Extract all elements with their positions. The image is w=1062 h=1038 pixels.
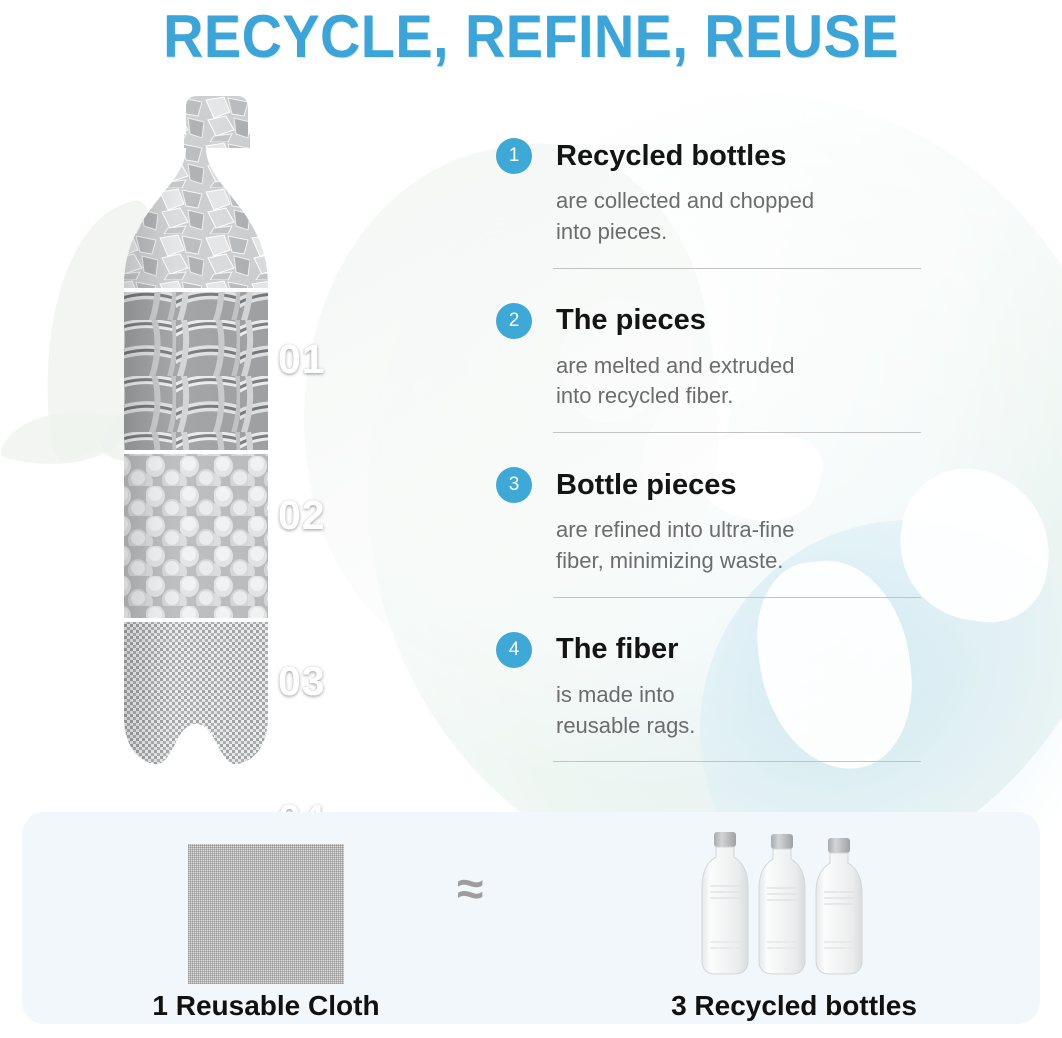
step-2-body: are melted and extruded into recycled fi… [556, 351, 926, 413]
cloth-swatch-icon [188, 844, 344, 984]
bottle-band-label-03: 03 [278, 658, 326, 705]
bottle-3 [816, 838, 862, 974]
step-number-badge-4: 4 [496, 632, 532, 668]
page-title: RECYCLE, REFINE, REUSE [37, 2, 1025, 71]
step-item-4: 4 The fiber is made into reusable rags. [496, 632, 926, 763]
bottle-diagram: 01 02 03 04 [112, 96, 400, 796]
spacer-1 [496, 269, 926, 303]
step-4-divider [553, 761, 921, 762]
step-1-title: Recycled bottles [556, 142, 786, 171]
bottle-band-label-02: 02 [278, 492, 326, 539]
spacer-3 [496, 598, 926, 632]
approximately-equal-icon: ≈ [457, 866, 483, 914]
step-2-divider [553, 432, 921, 433]
comparison-panel: 1 Reusable Cloth 3 Recycled bottles [22, 812, 1040, 1024]
step-4-body: is made into reusable rags. [556, 680, 926, 742]
left-item-label: 1 Reusable Cloth [114, 990, 418, 1022]
step-3-title: Bottle pieces [556, 471, 737, 500]
step-1-body: are collected and chopped into pieces. [556, 186, 926, 248]
step-1-header: 1 Recycled bottles [496, 138, 926, 174]
step-item-3: 3 Bottle pieces are refined into ultra-f… [496, 467, 926, 598]
steps-list: 1 Recycled bottles are collected and cho… [496, 138, 926, 762]
step-item-1: 1 Recycled bottles are collected and cho… [496, 138, 926, 269]
bottle-shape-svg [112, 96, 400, 796]
bottle-texture-bands [112, 96, 400, 796]
step-2-header: 2 The pieces [496, 303, 926, 339]
step-1-divider [553, 268, 921, 269]
spacer-2 [496, 433, 926, 467]
step-item-2: 2 The pieces are melted and extruded int… [496, 303, 926, 434]
step-3-header: 3 Bottle pieces [496, 467, 926, 503]
bottle-2 [759, 834, 805, 974]
bottle-band-label-01: 01 [278, 336, 326, 383]
bottle-1 [702, 832, 748, 974]
three-bottles-icon [694, 826, 894, 984]
step-number-badge-3: 3 [496, 467, 532, 503]
step-4-header: 4 The fiber [496, 632, 926, 668]
step-3-body: are refined into ultra-fine fiber, minim… [556, 515, 926, 577]
step-2-title: The pieces [556, 306, 706, 335]
step-number-badge-2: 2 [496, 303, 532, 339]
step-4-title: The fiber [556, 635, 678, 664]
right-item-label: 3 Recycled bottles [632, 990, 956, 1022]
step-number-badge-1: 1 [496, 138, 532, 174]
step-3-divider [553, 597, 921, 598]
infographic-page: RECYCLE, REFINE, REUSE [0, 0, 1062, 1038]
